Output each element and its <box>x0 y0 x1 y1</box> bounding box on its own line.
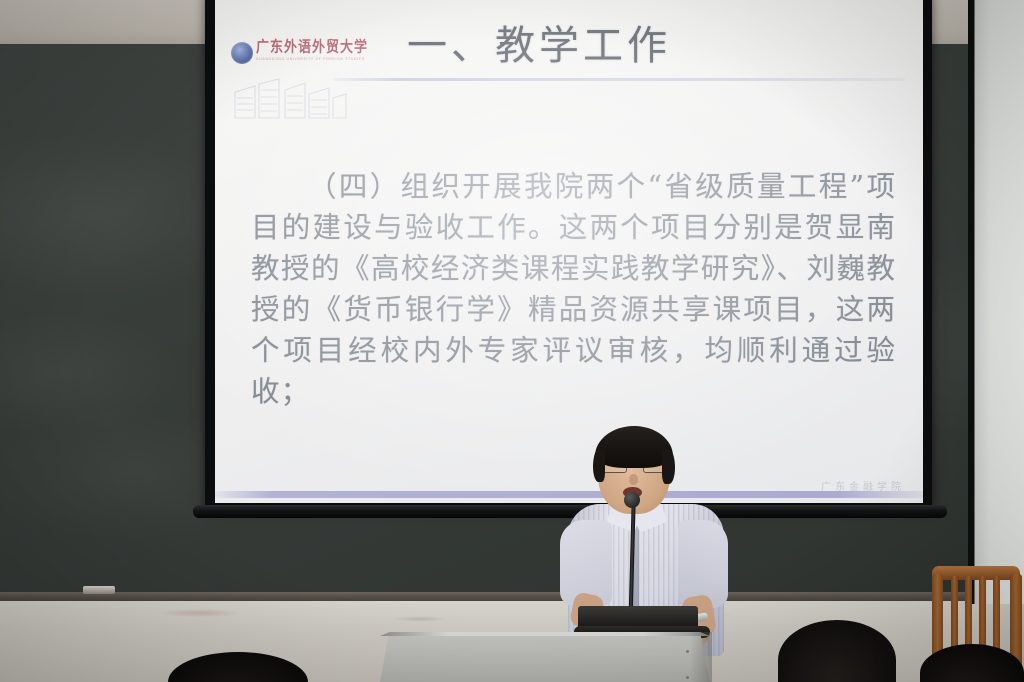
podium-side-shading <box>690 632 712 682</box>
presenter-nose <box>629 474 638 485</box>
podium-screw-upper <box>686 650 689 653</box>
slide-body-text: （四）组织开展我院两个“省级质量工程”项目的建设与验收工作。这两个项目分别是贺显… <box>251 166 896 412</box>
presenter-hair-right-side <box>662 448 675 484</box>
slide-title-divider <box>333 78 905 81</box>
campus-building-watermark-icon <box>233 76 348 120</box>
chair-top-rail <box>932 566 1020 580</box>
podium-screw-lower <box>686 676 689 679</box>
chalkboard-eraser-icon <box>83 586 115 594</box>
slide-title: 一、教学工作 <box>215 20 923 72</box>
lecture-hall-photo: 广东外语外贸大学 GUANGDONG UNIVERSITY OF FOREIGN… <box>0 0 1024 682</box>
presenter-hair-left-side <box>593 448 605 482</box>
podium <box>380 632 710 682</box>
microphone-icon <box>624 492 640 508</box>
right-wall-pillar <box>968 0 1024 604</box>
podium-top-edge <box>380 632 710 636</box>
